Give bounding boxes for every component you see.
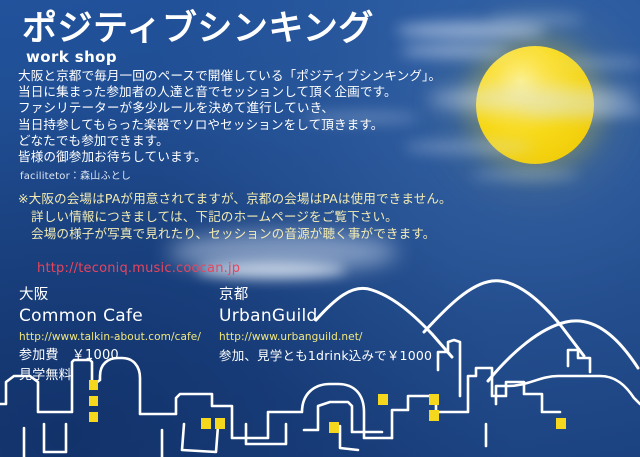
window-icon <box>429 410 439 421</box>
venue-city: 京都 <box>219 286 432 305</box>
moon-icon <box>476 46 594 164</box>
venue-kyoto: 京都 UrbanGuild http://www.urbanguild.net/… <box>219 286 432 366</box>
pa-notice-line: 会場の様子が写真で見れたり、セッションの音源が聴く事ができます。 <box>18 225 488 243</box>
venue-place-name: UrbanGuild <box>219 305 432 328</box>
cloud-icon <box>396 22 546 39</box>
mountain-middle-icon <box>424 281 584 356</box>
window-icon <box>429 394 439 405</box>
window-icon <box>89 412 98 422</box>
poster-canvas: ポジティブシンキング work shop 大阪と京都で毎月一回のペースで開催して… <box>0 0 640 457</box>
venue-place-name: Common Cafe <box>19 305 201 328</box>
venue-price-note: 見学無料 <box>19 366 201 386</box>
venue-osaka: 大阪 Common Cafe http://www.talkin-about.c… <box>19 286 201 386</box>
description-line: 大阪と京都で毎月一回のペースで開催している「ポジティブシンキング」。 <box>18 68 488 84</box>
description-block: 大阪と京都で毎月一回のペースで開催している「ポジティブシンキング」。 当日に集ま… <box>18 68 488 165</box>
mountain-right-icon <box>488 321 638 381</box>
building-outline-icon <box>182 424 218 452</box>
cloud-icon <box>488 14 584 25</box>
skyline-small-block-icon <box>568 350 590 372</box>
building-outline-icon <box>246 424 286 444</box>
description-line: 皆様の御参加お待ちしています。 <box>18 149 488 165</box>
cloud-icon <box>400 45 510 57</box>
description-line: 当日に集まった参加者の人達と音でセッションして頂く企画です。 <box>18 84 488 100</box>
window-icon <box>329 422 339 433</box>
window-icon <box>89 396 98 406</box>
page-title: ポジティブシンキング <box>22 10 374 49</box>
building-outline-icon <box>44 424 66 452</box>
venue-city: 大阪 <box>19 286 201 305</box>
description-line: どなたでも参加できます。 <box>18 133 488 149</box>
window-icon <box>556 418 566 429</box>
pa-notice-block: ※大阪の会場はPAが用意されてますが、京都の会場はPAは使用できません。 詳しい… <box>18 190 488 243</box>
venue-link[interactable]: http://www.urbanguild.net/ <box>219 328 432 346</box>
window-icon <box>201 418 211 429</box>
facilitator-credit: facilitetor：森山ふとし <box>20 167 131 182</box>
building-outline-icon <box>340 426 358 450</box>
cloud-icon <box>470 170 580 180</box>
venue-price: 参加費 ￥1000 <box>19 346 201 366</box>
venue-link[interactable]: http://www.talkin-about.com/cafe/ <box>19 328 201 346</box>
skyline-mid-icon <box>392 368 560 438</box>
venue-price: 参加、見学とも1drink込みで￥1000 <box>219 346 432 366</box>
skyline-far-right-icon <box>496 376 640 404</box>
page-subtitle: work shop <box>26 48 117 66</box>
pa-notice-line: 詳しい情報につきましては、下記のホームページをご覧下さい。 <box>18 208 488 226</box>
window-icon <box>215 418 225 429</box>
pa-notice-line: ※大阪の会場はPAが用意されてますが、京都の会場はPAは使用できません。 <box>18 190 488 208</box>
skyline-right-icon <box>304 402 382 432</box>
description-line: 当日持参してもらった楽器でソロやセッションをして頂きます。 <box>18 117 488 133</box>
skyline-tower-icon <box>438 340 460 396</box>
main-website-link[interactable]: http://teconiq.music.coocan.jp <box>37 261 240 276</box>
window-icon <box>378 394 388 405</box>
description-line: ファシリテーターが多少ルールを決めて進行していき、 <box>18 100 488 116</box>
